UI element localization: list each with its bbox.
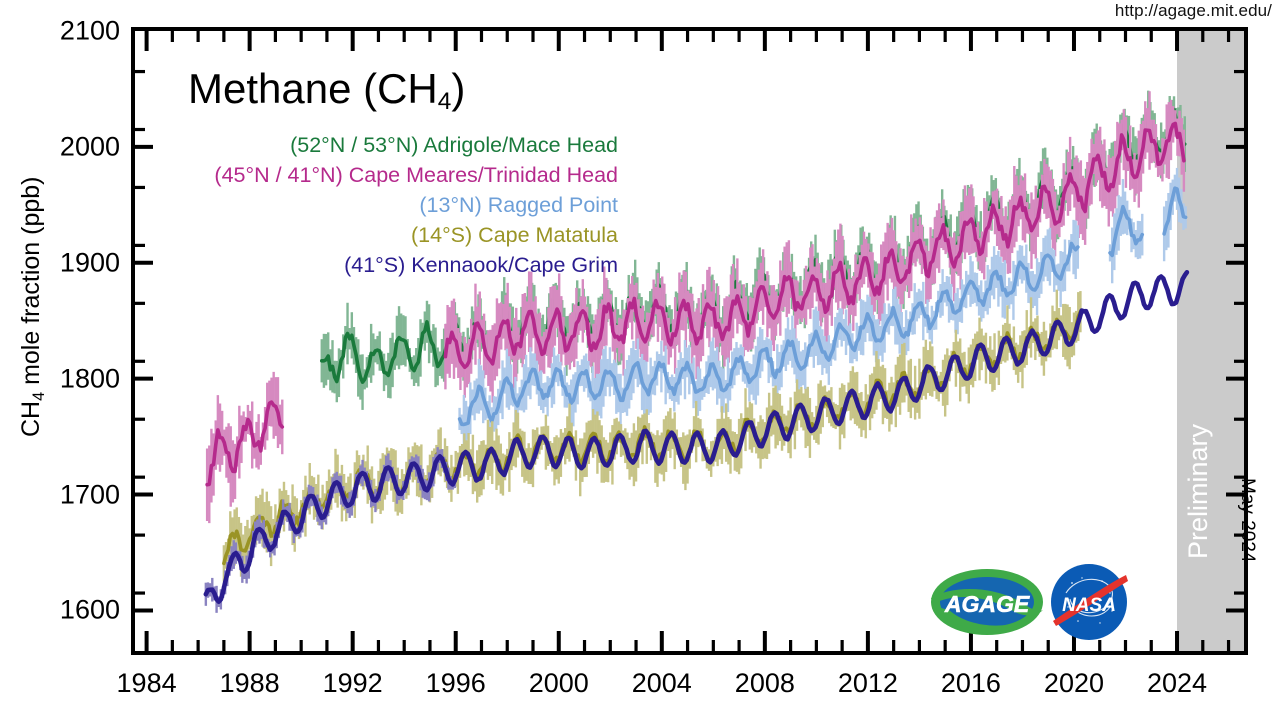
x-tick-label-2012: 2012 (808, 668, 928, 699)
axis-ticks-svg (135, 31, 1244, 651)
y-tick-label-1600: 1600 (10, 595, 120, 626)
legend-coords-3: (14°S) (411, 223, 472, 247)
y-tick-label-1800: 1800 (10, 363, 120, 394)
y-tick-label-1900: 1900 (10, 247, 120, 278)
agage-logo-text: AGAGE (944, 591, 1030, 617)
x-tick-label-1984: 1984 (87, 668, 207, 699)
x-tick-label-2020: 2020 (1014, 668, 1134, 699)
legend-station-1: Cape Meares/Trinidad Head (343, 163, 618, 187)
legend-item-4: (41°S) Kennaook/Cape Grim (188, 250, 618, 280)
chart-title: Methane (CH4) (188, 68, 465, 114)
y-tick-label-2100: 2100 (10, 16, 120, 47)
legend-item-1: (45°N / 41°N) Cape Meares/Trinidad Head (188, 160, 618, 190)
x-tick-label-1996: 1996 (396, 668, 516, 699)
legend-station-0: Adrigole/Mace Head (418, 133, 618, 157)
y-tick-label-2000: 2000 (10, 131, 120, 162)
x-tick-label-2016: 2016 (911, 668, 1031, 699)
legend: (52°N / 53°N) Adrigole/Mace Head(45°N / … (188, 130, 618, 280)
legend-station-3: Cape Matatula (472, 223, 618, 247)
legend-coords-1: (45°N / 41°N) (214, 163, 342, 187)
nasa-logo: NASA (1050, 563, 1128, 641)
x-tick-label-2004: 2004 (602, 668, 722, 699)
legend-item-2: (13°N) Ragged Point (188, 190, 618, 220)
legend-item-0: (52°N / 53°N) Adrigole/Mace Head (188, 130, 618, 160)
chart-page: http://agage.mit.edu/ CH4 mole fraction … (0, 0, 1280, 722)
legend-station-4: Kennaook/Cape Grim (405, 253, 618, 277)
x-tick-label-2024: 2024 (1117, 668, 1237, 699)
legend-item-3: (14°S) Cape Matatula (188, 220, 618, 250)
x-tick-label-2008: 2008 (705, 668, 825, 699)
agage-logo: AGAGE (929, 566, 1045, 638)
legend-coords-2: (13°N) (419, 193, 481, 217)
source-url: http://agage.mit.edu/ (1115, 1, 1272, 21)
y-tick-label-1700: 1700 (10, 479, 120, 510)
legend-coords-4: (41°S) (344, 253, 405, 277)
nasa-logo-text: NASA (1062, 595, 1116, 616)
x-tick-label-2000: 2000 (499, 668, 619, 699)
x-tick-label-1992: 1992 (293, 668, 413, 699)
legend-coords-0: (52°N / 53°N) (290, 133, 418, 157)
date-stamp: May-2024 (1236, 478, 1258, 563)
x-tick-label-1988: 1988 (190, 668, 310, 699)
legend-station-2: Ragged Point (482, 193, 618, 217)
plot-area: Preliminary (131, 27, 1248, 655)
